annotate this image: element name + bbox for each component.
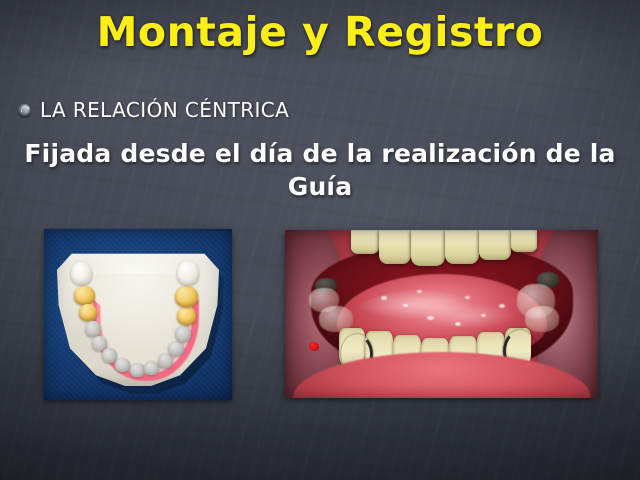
slide-title: Montaje y Registro [0,8,640,56]
upper-tooth [411,230,445,266]
cast-tooth [168,341,184,356]
saliva-highlight [381,296,387,300]
upper-tooth [351,230,379,254]
saliva-highlight [417,290,422,293]
saliva-highlight [465,296,470,299]
cast-tooth [177,261,199,285]
upper-tooth [445,230,479,264]
cast-tooth [144,361,159,375]
saliva-highlight [455,322,461,326]
cast-tooth [175,326,191,342]
resin-restoration [525,306,559,332]
slide-canvas: Montaje y Registro LA RELACIÓN CÉNTRICA … [0,0,640,480]
saliva-highlight [427,316,434,320]
cast-tooth [71,262,92,285]
cast-gold-crown [175,286,198,307]
saliva-highlight [481,314,486,317]
cast-tooth [158,353,173,368]
intraoral-photo [285,230,598,398]
saliva-highlight [499,304,505,308]
bullet-item-label: LA RELACIÓN CÉNTRICA [40,98,289,122]
mucosa-red-spot [309,342,319,351]
saliva-highlight [403,304,408,307]
upper-tooth [479,230,511,260]
upper-tooth [379,230,411,264]
bullet-list-item: LA RELACIÓN CÉNTRICA [18,98,289,122]
swirl-bullet-icon [18,104,31,117]
slide-subtitle: Fijada desde el día de la realización de… [20,137,620,203]
cast-gold-crown [74,286,95,305]
upper-tooth [511,230,537,252]
cast-tooth [115,358,130,372]
cast-gold-crown [177,307,196,325]
cast-gold-crown [79,304,97,321]
dental-cast-photo [44,229,232,400]
cast-tooth [85,321,101,337]
cast-tooth [130,363,145,377]
